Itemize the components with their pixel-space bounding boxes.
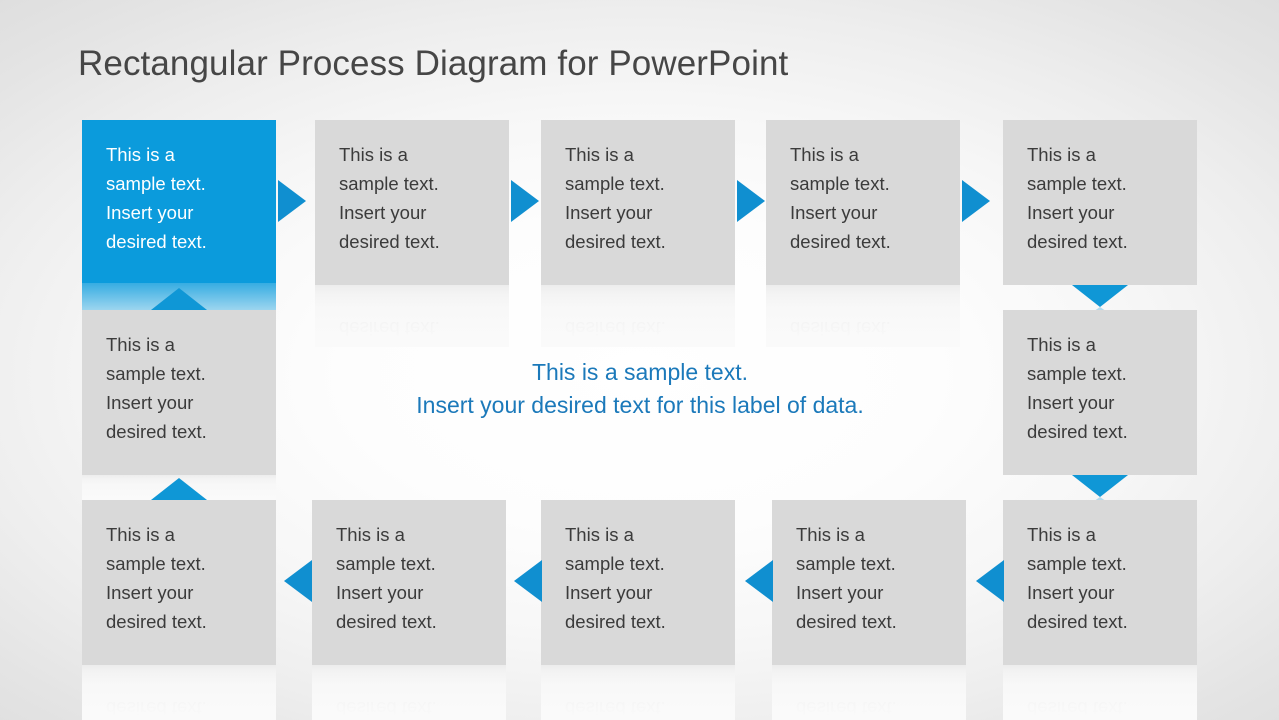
process-box-right-mid[interactable]: This is a sample text. Insert your desir…: [1003, 310, 1197, 475]
arrow-down-icon: [1072, 475, 1128, 497]
reflection-veil: [312, 665, 506, 720]
page-title: Rectangular Process Diagram for PowerPoi…: [78, 44, 788, 84]
process-box-text: This is a sample text. Insert your desir…: [796, 520, 946, 636]
reflection-top-2: This is a sample text. Insert your desir…: [315, 285, 509, 347]
reflection-veil: [772, 665, 966, 720]
reflection-veil: [1003, 665, 1197, 720]
process-box-text: This is a sample text. Insert your desir…: [336, 520, 486, 636]
reflection-veil: [315, 285, 509, 347]
process-box-text: This is a sample text. Insert your desir…: [106, 520, 256, 636]
process-box-text: This is a sample text. Insert your desir…: [565, 140, 715, 256]
process-box-text: This is a sample text. Insert your desir…: [339, 140, 489, 256]
process-box-bottom-5[interactable]: This is a sample text. Insert your desir…: [1003, 500, 1197, 665]
arrow-up-icon: [151, 478, 207, 500]
center-label-line1: This is a sample text.: [532, 359, 748, 385]
arrow-left-icon: [976, 560, 1004, 602]
process-box-top-3[interactable]: This is a sample text. Insert your desir…: [541, 120, 735, 285]
reflection-veil: [541, 665, 735, 720]
slide-canvas: Rectangular Process Diagram for PowerPoi…: [0, 0, 1279, 720]
process-box-top-1[interactable]: This is a sample text. Insert your desir…: [82, 120, 276, 283]
arrow-right-icon: [737, 180, 765, 222]
process-box-top-5[interactable]: This is a sample text. Insert your desir…: [1003, 120, 1197, 285]
reflection-veil: [82, 665, 276, 720]
process-box-text: This is a sample text. Insert your desir…: [106, 330, 256, 446]
reflection-bottom-2: This is a sample text. Insert your desir…: [312, 665, 506, 720]
process-box-text: This is a sample text. Insert your desir…: [565, 520, 715, 636]
arrow-left-icon: [745, 560, 773, 602]
arrow-up-icon: [151, 288, 207, 310]
process-box-left-mid[interactable]: This is a sample text. Insert your desir…: [82, 310, 276, 475]
process-box-bottom-3[interactable]: This is a sample text. Insert your desir…: [541, 500, 735, 665]
center-label-line2: Insert your desired text for this label …: [290, 389, 990, 422]
process-box-bottom-2[interactable]: This is a sample text. Insert your desir…: [312, 500, 506, 665]
process-box-text: This is a sample text. Insert your desir…: [106, 140, 256, 256]
reflection-bottom-1: This is a sample text. Insert your desir…: [82, 665, 276, 720]
process-box-text: This is a sample text. Insert your desir…: [790, 140, 940, 256]
reflection-top-3: This is a sample text. Insert your desir…: [541, 285, 735, 347]
process-box-text: This is a sample text. Insert your desir…: [1027, 330, 1177, 446]
reflection-veil: [766, 285, 960, 347]
arrow-right-icon: [962, 180, 990, 222]
reflection-bottom-5: This is a sample text. Insert your desir…: [1003, 665, 1197, 720]
reflection-top-4: This is a sample text. Insert your desir…: [766, 285, 960, 347]
process-box-top-2[interactable]: This is a sample text. Insert your desir…: [315, 120, 509, 285]
center-label: This is a sample text. Insert your desir…: [290, 356, 990, 422]
process-box-top-4[interactable]: This is a sample text. Insert your desir…: [766, 120, 960, 285]
arrow-left-icon: [284, 560, 312, 602]
reflection-veil: [541, 285, 735, 347]
reflection-bottom-4: This is a sample text. Insert your desir…: [772, 665, 966, 720]
arrow-right-icon: [278, 180, 306, 222]
process-box-text: This is a sample text. Insert your desir…: [1027, 520, 1177, 636]
process-box-bottom-1[interactable]: This is a sample text. Insert your desir…: [82, 500, 276, 665]
arrow-down-icon: [1072, 285, 1128, 307]
reflection-bottom-3: This is a sample text. Insert your desir…: [541, 665, 735, 720]
process-box-bottom-4[interactable]: This is a sample text. Insert your desir…: [772, 500, 966, 665]
arrow-left-icon: [514, 560, 542, 602]
process-box-text: This is a sample text. Insert your desir…: [1027, 140, 1177, 256]
arrow-right-icon: [511, 180, 539, 222]
